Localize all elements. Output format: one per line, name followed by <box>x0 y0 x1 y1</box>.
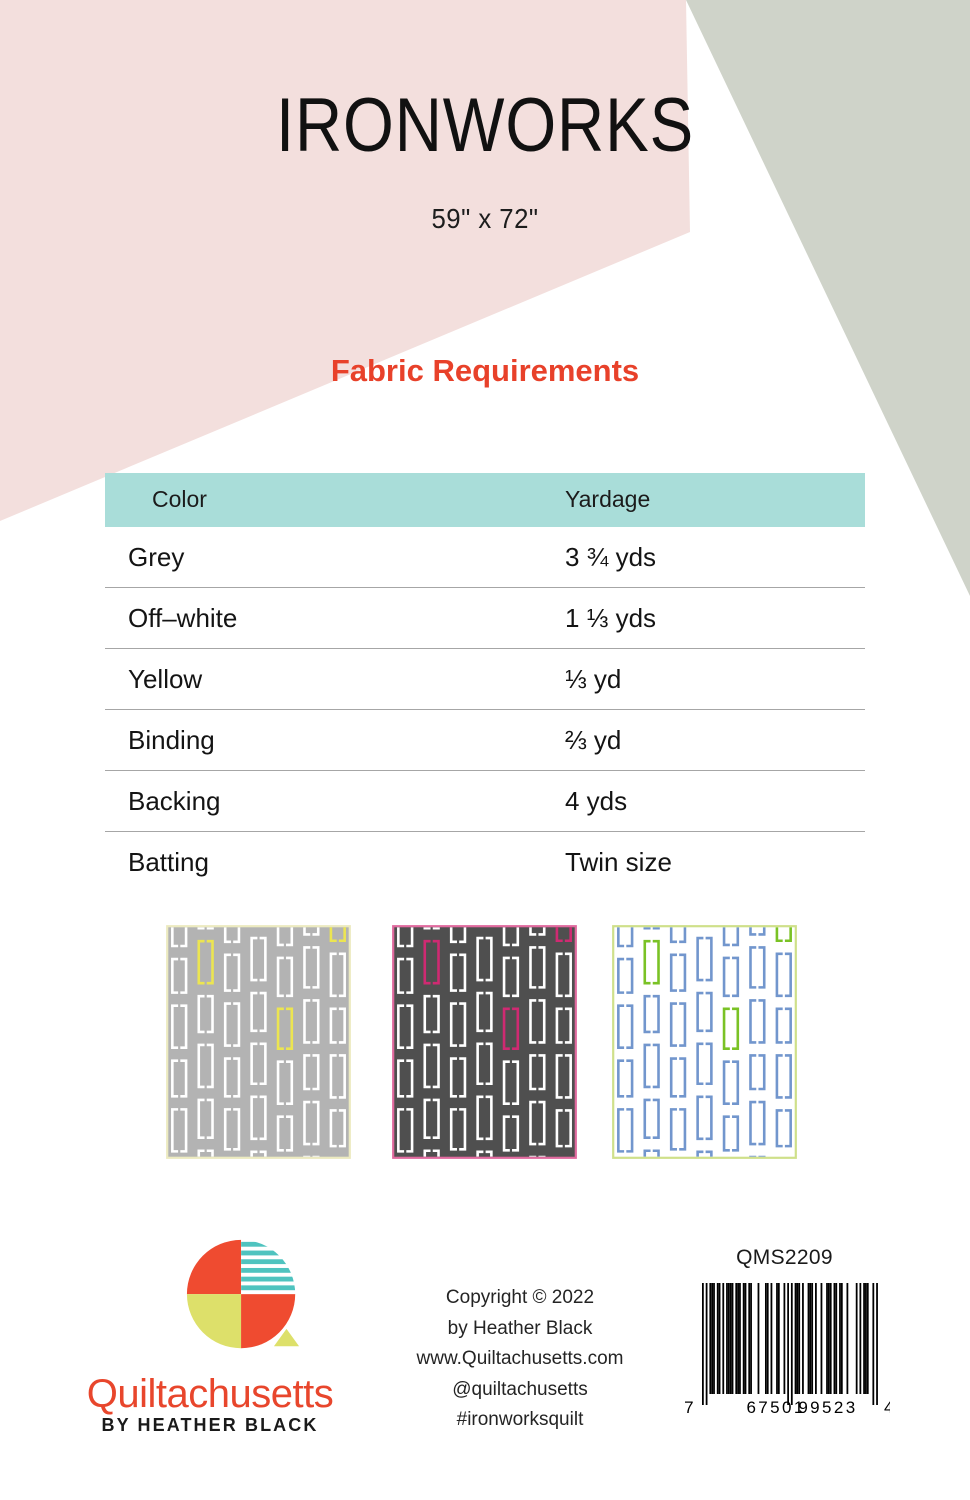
copyright-line: Copyright © 2022 <box>340 1283 700 1314</box>
barcode-bar <box>718 1283 720 1394</box>
cell-yardage: ⅓ yd <box>565 649 865 710</box>
barcode-bar <box>839 1283 841 1394</box>
quilt-thumbnail-charcoal-pink <box>392 925 577 1159</box>
quilt-thumbnail-grey-yellow <box>166 925 351 1159</box>
table-row: Backing 4 yds <box>105 771 865 832</box>
quilt-diagram <box>612 925 797 1159</box>
column-header-yardage: Yardage <box>565 473 865 527</box>
quilt-background <box>167 926 350 1158</box>
logo-quadrant-yellow-bottomleft <box>187 1294 241 1348</box>
author-line: by Heather Black <box>340 1314 700 1345</box>
barcode-bar <box>790 1283 792 1405</box>
barcode-bar <box>815 1283 817 1394</box>
table-row: Yellow ⅓ yd <box>105 649 865 710</box>
barcode-bar <box>855 1283 857 1394</box>
barcode-bar <box>735 1283 737 1394</box>
cell-yardage: Twin size <box>565 832 865 893</box>
barcode-bar <box>826 1283 828 1394</box>
column-header-color: Color <box>105 473 565 527</box>
table-row: Off–white 1 ⅓ yds <box>105 588 865 649</box>
logo-mark-icon <box>185 1238 301 1354</box>
barcode-graphic: 767501995234 <box>680 1279 890 1439</box>
quilt-background <box>613 926 796 1158</box>
barcode-bar <box>748 1283 750 1394</box>
cell-yardage: ⅔ yd <box>565 710 865 771</box>
barcode-bar <box>827 1283 829 1394</box>
barcode-bar <box>833 1283 835 1394</box>
cell-color: Grey <box>105 527 565 588</box>
barcode-bar <box>865 1283 867 1394</box>
page-title: IRONWORKS <box>68 88 902 164</box>
barcode-bar <box>764 1283 766 1394</box>
barcode-bar <box>866 1283 868 1394</box>
table-row: Grey 3 ¾ yds <box>105 527 865 588</box>
barcode-bar <box>872 1283 874 1405</box>
barcode-digit-left-guard: 7 <box>684 1398 696 1417</box>
barcode-bar <box>777 1283 779 1394</box>
barcode-bar <box>809 1283 811 1394</box>
pattern-back-cover: IRONWORKS 59" x 72" Fabric Requirements … <box>0 0 970 1500</box>
section-heading-fabric-requirements: Fabric Requirements <box>0 353 970 389</box>
barcode-bar <box>766 1283 768 1394</box>
cell-color: Yellow <box>105 649 565 710</box>
barcode-bar <box>729 1283 731 1394</box>
barcode-bar <box>863 1283 865 1394</box>
barcode-bar <box>757 1283 759 1394</box>
table-header-row: Color Yardage <box>105 473 865 527</box>
barcode-bar <box>846 1283 848 1394</box>
barcode-digit-right-guard: 4 <box>884 1398 890 1417</box>
barcode-bar <box>716 1283 718 1394</box>
barcode-bar <box>702 1283 704 1405</box>
quilt-diagram <box>392 925 577 1159</box>
website-line[interactable]: www.Quiltachusetts.com <box>340 1344 700 1375</box>
barcode-bar <box>811 1283 813 1394</box>
barcode-digits-group-two: 99523 <box>798 1398 857 1417</box>
barcode-bar <box>722 1283 724 1394</box>
barcode-bar <box>876 1283 878 1405</box>
barcode-bar <box>726 1283 728 1394</box>
table-body: Grey 3 ¾ yds Off–white 1 ⅓ yds Yellow ⅓ … <box>105 527 865 892</box>
hashtag-line[interactable]: #ironworksquilt <box>340 1405 700 1436</box>
barcode-bar <box>709 1283 711 1394</box>
barcode-digits-group-one: 67501 <box>746 1398 805 1417</box>
quilt-size-label: 59" x 72" <box>39 203 931 235</box>
table-header: Color Yardage <box>105 473 865 527</box>
table-row: Batting Twin size <box>105 832 865 893</box>
fabric-requirements-table: Color Yardage Grey 3 ¾ yds Off–white 1 ⅓… <box>105 473 865 892</box>
barcode-bar <box>739 1283 741 1394</box>
barcode-bar <box>713 1283 715 1394</box>
copyright-block: Copyright © 2022 by Heather Black www.Qu… <box>340 1283 700 1436</box>
cell-yardage: 4 yds <box>565 771 865 832</box>
barcode-bar <box>731 1283 733 1394</box>
cell-color: Binding <box>105 710 565 771</box>
barcode-bar <box>840 1283 842 1394</box>
barcode-block: QMS2209 767501995234 <box>672 1246 897 1439</box>
barcode-bar <box>744 1283 746 1394</box>
upc-barcode: 767501995234 <box>680 1279 890 1439</box>
barcode-bar <box>796 1283 798 1394</box>
barcode-bar <box>711 1283 713 1394</box>
barcode-bar <box>820 1283 822 1394</box>
barcode-bar <box>776 1283 778 1394</box>
barcode-bar <box>727 1283 729 1394</box>
barcode-bar <box>829 1283 831 1394</box>
barcode-bar <box>705 1283 707 1405</box>
barcode-bar <box>737 1283 739 1394</box>
barcode-bar <box>742 1283 744 1394</box>
quilt-background <box>393 926 576 1158</box>
barcode-bar <box>750 1283 752 1394</box>
barcode-bar <box>835 1283 837 1394</box>
cell-yardage: 1 ⅓ yds <box>565 588 865 649</box>
logo-quadrant-red-topleft <box>187 1240 241 1294</box>
sku-label: QMS2209 <box>672 1246 897 1270</box>
social-handle-line[interactable]: @quiltachusetts <box>340 1375 700 1406</box>
cell-yardage: 3 ¾ yds <box>565 527 865 588</box>
quilt-thumbnail-white-blue-green <box>612 925 797 1159</box>
barcode-bar <box>807 1283 809 1394</box>
table-row: Binding ⅔ yd <box>105 710 865 771</box>
barcode-bar <box>787 1283 789 1405</box>
barcode-bar <box>859 1283 861 1394</box>
colorway-thumbnails <box>0 925 970 1165</box>
cell-color: Off–white <box>105 588 565 649</box>
cell-color: Backing <box>105 771 565 832</box>
barcode-bar <box>770 1283 772 1394</box>
barcode-bar <box>798 1283 800 1394</box>
quilt-diagram <box>166 925 351 1159</box>
cell-color: Batting <box>105 832 565 893</box>
logo-quadrant-striped-topright <box>239 1240 297 1296</box>
barcode-bar <box>802 1283 804 1394</box>
barcode-bar <box>794 1283 796 1394</box>
barcode-bar <box>783 1283 785 1394</box>
